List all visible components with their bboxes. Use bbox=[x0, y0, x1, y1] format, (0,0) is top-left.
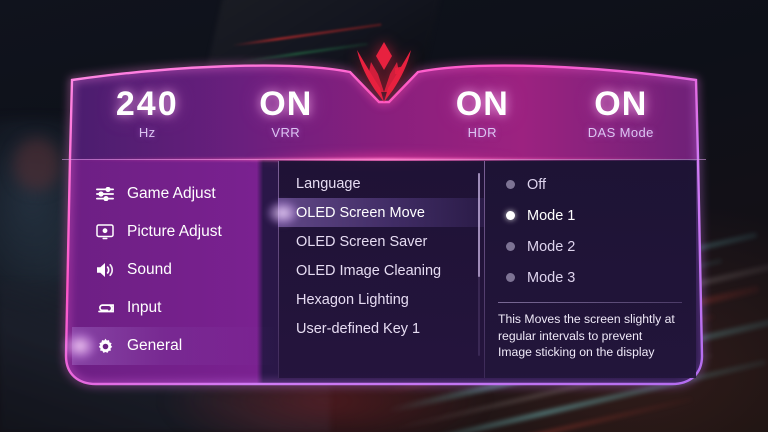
submenu-item-user-defined-key-1[interactable]: User-defined Key 1 bbox=[278, 314, 484, 343]
submenu-item-oled-screen-move[interactable]: OLED Screen Move bbox=[278, 198, 484, 227]
sliders-icon bbox=[94, 185, 116, 203]
option-mode-3[interactable]: Mode 3 bbox=[484, 262, 696, 293]
sidebar-item-input[interactable]: Input bbox=[72, 289, 278, 327]
sidebar-item-sound[interactable]: Sound bbox=[72, 251, 278, 289]
option-label: Off bbox=[527, 177, 546, 193]
status-vrr: ON VRR bbox=[217, 80, 356, 140]
submenu-item-oled-screen-saver[interactable]: OLED Screen Saver bbox=[278, 227, 484, 256]
option-label: Mode 2 bbox=[527, 239, 575, 255]
speaker-icon bbox=[94, 261, 116, 279]
sidebar-item-label: Input bbox=[127, 299, 161, 317]
status-das-mode: ON DAS Mode bbox=[552, 80, 691, 140]
submenu-scrollbar-thumb[interactable] bbox=[478, 173, 480, 277]
submenu-list: Language OLED Screen Move OLED Screen Sa… bbox=[278, 161, 484, 378]
status-label: VRR bbox=[217, 125, 356, 140]
description-line: This Moves the screen slightly at bbox=[498, 311, 684, 328]
sidebar-item-label: Sound bbox=[127, 261, 172, 279]
monitor-icon bbox=[94, 223, 116, 241]
sidebar-item-label: Game Adjust bbox=[127, 185, 216, 203]
status-value: 240 bbox=[78, 86, 217, 122]
sidebar: Game Adjust Picture Adjust bbox=[72, 161, 278, 378]
submenu-item-label: Hexagon Lighting bbox=[296, 292, 409, 308]
status-value: ON bbox=[552, 86, 691, 122]
osd-body: Game Adjust Picture Adjust bbox=[72, 161, 696, 378]
status-hdr: ON HDR bbox=[413, 80, 552, 140]
options-panel: Off Mode 1 Mode 2 Mode 3 bbox=[484, 161, 696, 378]
radio-icon-selected bbox=[506, 211, 515, 220]
radio-icon bbox=[506, 180, 515, 189]
option-label: Mode 1 bbox=[527, 208, 575, 224]
plug-icon bbox=[94, 299, 116, 317]
option-mode-2[interactable]: Mode 2 bbox=[484, 231, 696, 262]
sidebar-item-label: Picture Adjust bbox=[127, 223, 222, 241]
options-description: This Moves the screen slightly at regula… bbox=[484, 303, 696, 361]
screenshot-root: 240 Hz ON VRR ON HDR ON DAS Mode bbox=[0, 0, 768, 432]
sidebar-item-general[interactable]: General bbox=[72, 327, 278, 365]
radio-icon bbox=[506, 242, 515, 251]
description-line: regular intervals to prevent bbox=[498, 328, 684, 345]
submenu-item-label: Language bbox=[296, 176, 361, 192]
submenu-item-label: OLED Image Cleaning bbox=[296, 263, 441, 279]
status-label: Hz bbox=[78, 125, 217, 140]
sidebar-item-label: General bbox=[127, 337, 182, 355]
description-line: Image sticking on the display bbox=[498, 344, 684, 361]
gear-icon bbox=[94, 337, 116, 355]
options-left-divider bbox=[484, 161, 485, 378]
status-value: ON bbox=[413, 86, 552, 122]
status-label: DAS Mode bbox=[552, 125, 691, 140]
osd-panel: 240 Hz ON VRR ON HDR ON DAS Mode bbox=[50, 62, 718, 392]
status-label: HDR bbox=[413, 125, 552, 140]
option-label: Mode 3 bbox=[527, 270, 575, 286]
submenu-item-language[interactable]: Language bbox=[278, 169, 484, 198]
option-mode-1[interactable]: Mode 1 bbox=[484, 200, 696, 231]
sidebar-item-game-adjust[interactable]: Game Adjust bbox=[72, 175, 278, 213]
submenu-item-label: OLED Screen Move bbox=[296, 205, 425, 221]
submenu-item-oled-image-cleaning[interactable]: OLED Image Cleaning bbox=[278, 256, 484, 285]
status-value: ON bbox=[217, 86, 356, 122]
radio-icon bbox=[506, 273, 515, 282]
option-off[interactable]: Off bbox=[484, 169, 696, 200]
osd-status-header: 240 Hz ON VRR ON HDR ON DAS Mode bbox=[78, 80, 690, 158]
submenu-item-label: User-defined Key 1 bbox=[296, 321, 420, 337]
submenu-item-label: OLED Screen Saver bbox=[296, 234, 427, 250]
sidebar-item-picture-adjust[interactable]: Picture Adjust bbox=[72, 213, 278, 251]
status-refresh-rate: 240 Hz bbox=[78, 80, 217, 140]
submenu-item-hexagon-lighting[interactable]: Hexagon Lighting bbox=[278, 285, 484, 314]
